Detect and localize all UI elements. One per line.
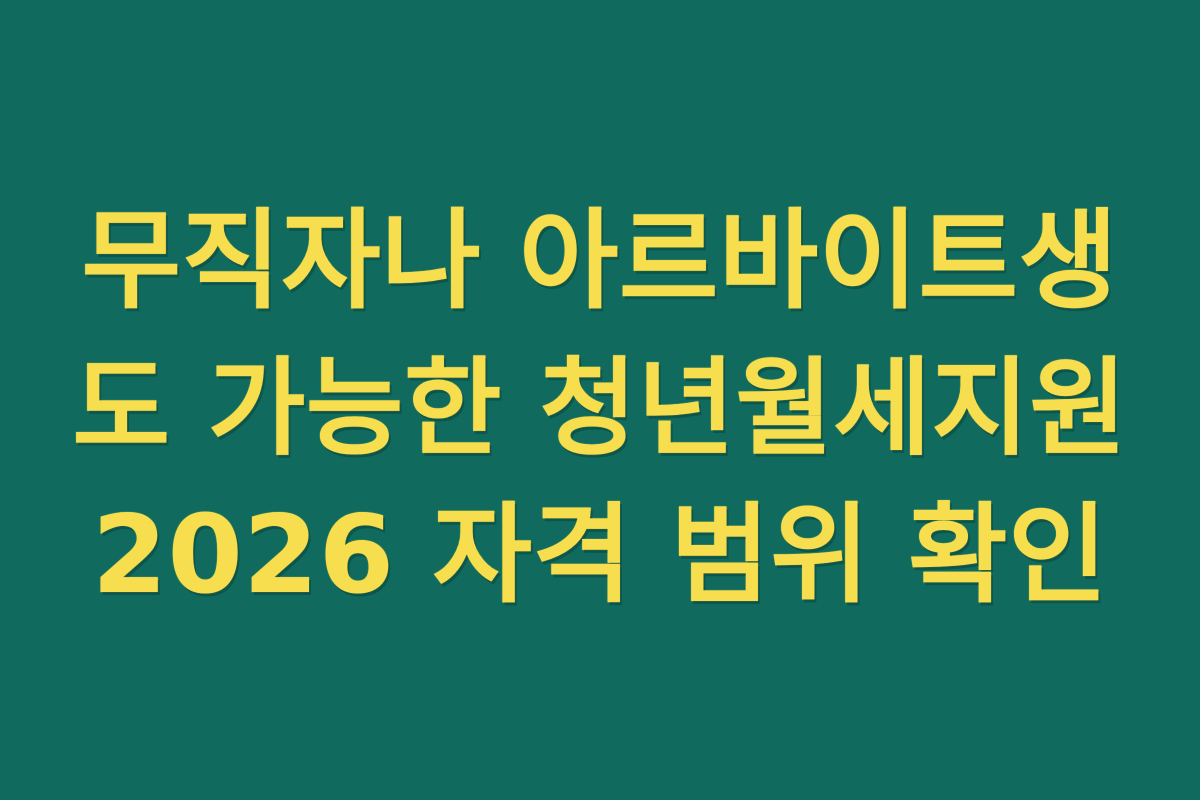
headline-block: 무직자나 아르바이트생 도 가능한 청년월세지원 2026 자격 범위 확인: [70, 188, 1130, 629]
thumbnail-canvas: 무직자나 아르바이트생 도 가능한 청년월세지원 2026 자격 범위 확인: [0, 0, 1200, 800]
headline-line-1: 무직자나 아르바이트생: [82, 188, 1119, 336]
headline-line-3: 2026 자격 범위 확인: [92, 482, 1108, 630]
headline-line-2: 도 가능한 청년월세지원: [72, 336, 1127, 481]
